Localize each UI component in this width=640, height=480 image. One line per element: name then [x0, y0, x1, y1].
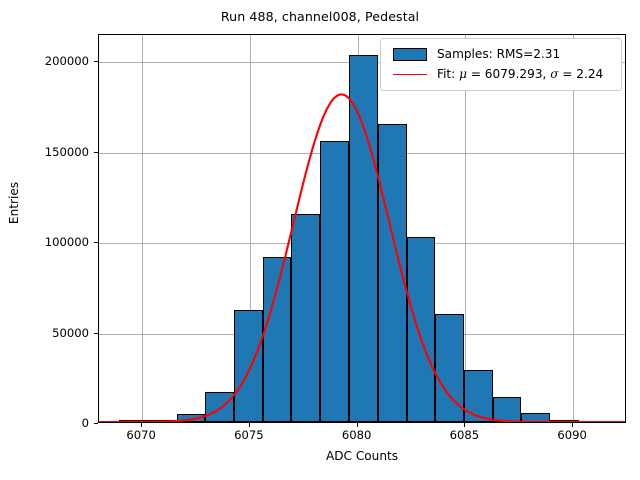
y-tick-mark [94, 333, 98, 334]
x-tick-label: 6080 [342, 428, 372, 442]
x-tick-label: 6085 [450, 428, 480, 442]
legend-label-fit: Fit: μ = 6079.293, σ = 2.24 [431, 67, 603, 81]
legend-fit-sigma-value: = 2.24 [558, 67, 603, 81]
page-title: Run 488, channel008, Pedestal [0, 9, 640, 24]
x-axis-label: ADC Counts [98, 449, 626, 463]
x-tick-label: 6070 [126, 428, 156, 442]
figure-canvas: Run 488, channel008, Pedestal 6070607560… [0, 0, 640, 480]
legend-item-fit: Fit: μ = 6079.293, σ = 2.24 [389, 64, 613, 84]
y-tick-mark [94, 242, 98, 243]
y-tick-label: 0 [82, 416, 89, 430]
legend-line-icon [389, 74, 431, 75]
y-tick-label: 50000 [52, 326, 89, 340]
legend-fit-prefix: Fit: [437, 67, 459, 81]
plot-area [98, 34, 626, 423]
legend-fit-mu-value: = 6079.293, [467, 67, 550, 81]
x-tick-label: 6075 [234, 428, 264, 442]
y-tick-mark [94, 61, 98, 62]
x-tick-mark [141, 423, 142, 427]
x-tick-mark [357, 423, 358, 427]
y-tick-mark [94, 152, 98, 153]
gaussian-fit-curve [99, 35, 625, 422]
x-tick-label: 6090 [557, 428, 587, 442]
y-tick-label: 100000 [45, 235, 89, 249]
y-axis-label: Entries [7, 123, 21, 283]
y-tick-label: 200000 [45, 54, 89, 68]
y-tick-label: 150000 [45, 145, 89, 159]
x-tick-mark [464, 423, 465, 427]
legend-item-samples: Samples: RMS=2.31 [389, 44, 613, 64]
legend-fit-mu-symbol: μ [459, 67, 467, 81]
x-tick-mark [572, 423, 573, 427]
legend-patch-icon [389, 48, 431, 61]
x-tick-mark [249, 423, 250, 427]
y-tick-mark [94, 423, 98, 424]
legend[interactable]: Samples: RMS=2.31 Fit: μ = 6079.293, σ =… [380, 38, 622, 91]
legend-label-samples: Samples: RMS=2.31 [431, 47, 560, 61]
